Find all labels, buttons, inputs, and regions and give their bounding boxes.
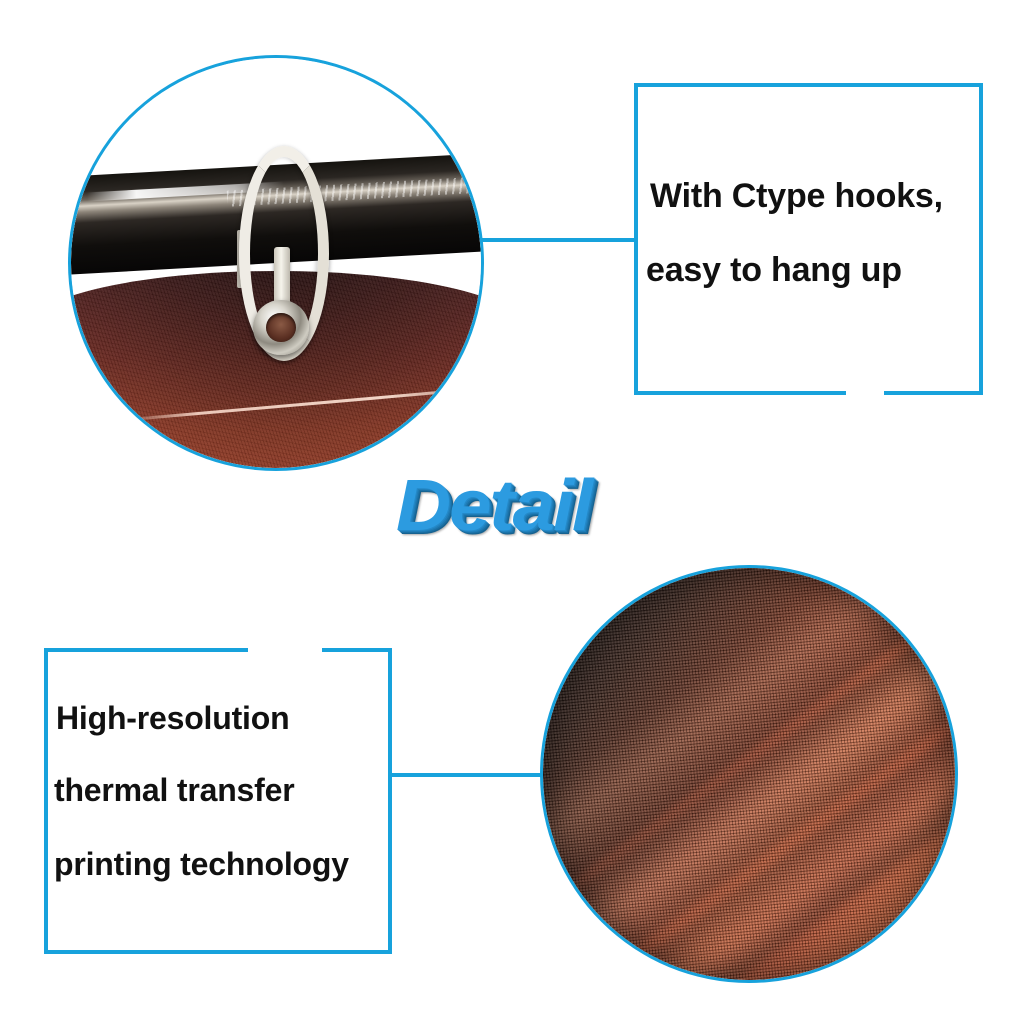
photo-fabric-closeup <box>543 568 955 980</box>
photo-vignette <box>543 568 955 980</box>
callout-printing-border-right <box>388 648 392 954</box>
photo-hook-closeup <box>71 58 481 468</box>
grommet-hole <box>266 313 296 343</box>
callout-hooks-border-bottom-right <box>884 391 983 395</box>
callout-hooks-line-2: easy to hang up <box>646 251 902 290</box>
callout-hooks: With Ctype hooks, easy to hang up <box>634 83 983 395</box>
callout-printing-line-1: High-resolution <box>56 700 289 737</box>
photo-fabric-inner <box>543 568 955 980</box>
photo-hook-inner <box>71 58 481 468</box>
callout-hooks-border-top <box>634 83 983 87</box>
callout-hooks-border-right <box>979 83 983 395</box>
callout-printing-line-2: thermal transfer <box>54 772 294 809</box>
callout-hooks-border-bottom-left <box>634 391 846 395</box>
callout-printing: High-resolution thermal transfer printin… <box>44 648 392 954</box>
connector-line-bottom <box>390 773 548 777</box>
infographic-canvas: With Ctype hooks, easy to hang up Detail… <box>0 0 1024 1024</box>
callout-hooks-border-left <box>634 83 638 395</box>
detail-heading: Detail <box>396 470 591 542</box>
connector-line-top <box>480 238 638 242</box>
callout-printing-border-bottom <box>44 950 392 954</box>
callout-printing-border-top-right <box>322 648 392 652</box>
callout-printing-border-top-left <box>44 648 248 652</box>
callout-hooks-line-1: With Ctype hooks, <box>650 177 943 216</box>
callout-printing-line-3: printing technology <box>54 846 349 883</box>
callout-printing-border-left <box>44 648 48 954</box>
